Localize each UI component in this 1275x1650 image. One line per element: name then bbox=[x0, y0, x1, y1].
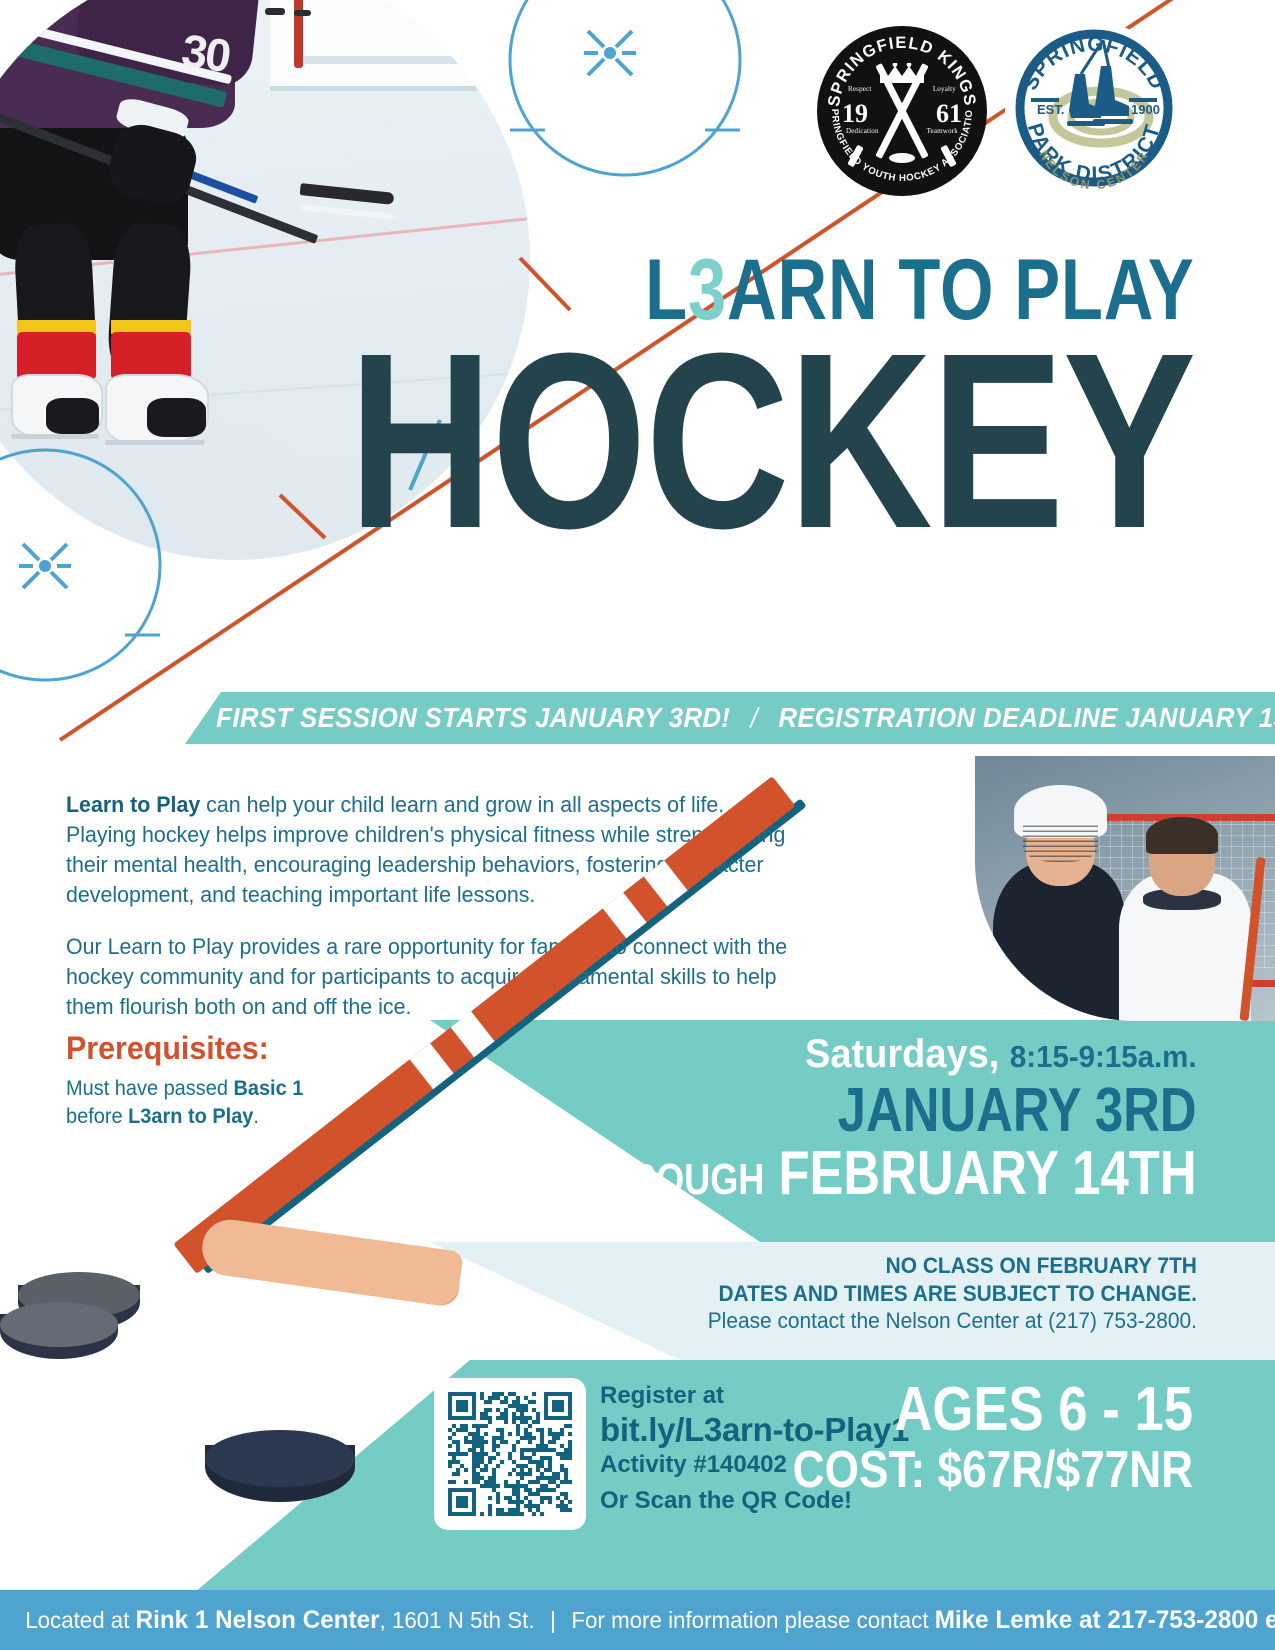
kings-value-dedication: Dedication bbox=[846, 127, 879, 135]
goal-bar bbox=[294, 56, 459, 64]
banner-registration-deadline: REGISTRATION DEADLINE JANUARY 1ST bbox=[778, 702, 1275, 733]
schedule-block: Saturdays, 8:15-9:15a.m. JANUARY 3RD THR… bbox=[447, 1032, 1197, 1205]
prereq-line2-post: . bbox=[253, 1105, 259, 1128]
crown-icon bbox=[878, 63, 926, 85]
skate-toe-left bbox=[46, 398, 99, 434]
prereq-line2-pre: before bbox=[66, 1105, 128, 1128]
footer-located-pre: Located at bbox=[25, 1607, 135, 1633]
kings-value-teamwork: Teamwork bbox=[927, 127, 958, 135]
springfield-park-district-logo: SPRINGFIELD PARK DISTRICT EST. 1900 NELS… bbox=[1005, 22, 1183, 200]
kings-year-right: 61 bbox=[936, 99, 962, 129]
logo-row: SPRINGFIELD KINGS SPRINGFIELD YOUTH HOCK… bbox=[817, 22, 1183, 200]
footer-text: Located at Rink 1 Nelson Center, 1601 N … bbox=[0, 1606, 1275, 1635]
prereq-line1-pre: Must have passed bbox=[66, 1077, 233, 1100]
schedule-through-word: THROUGH bbox=[582, 1155, 764, 1204]
schedule-day: Saturdays, bbox=[805, 1032, 999, 1076]
park-est-year: 1900 bbox=[1131, 102, 1160, 117]
jersey-number: 30 bbox=[178, 23, 232, 83]
footer-contact-name: Mike Lemke bbox=[935, 1606, 1072, 1634]
puck-icon bbox=[889, 153, 915, 163]
banner-separator: / bbox=[730, 702, 778, 733]
intro-bold-lead: Learn to Play bbox=[66, 792, 200, 817]
schedule-end-date: THROUGH FEBRUARY 14TH bbox=[582, 1142, 1197, 1205]
pricing-block: AGES 6 - 15 COST: $67R/$77NR bbox=[722, 1378, 1193, 1498]
player-b-hair bbox=[1146, 817, 1218, 854]
skate-blade-left bbox=[11, 434, 100, 439]
schedule-day-time: Saturdays, 8:15-9:15a.m. bbox=[485, 1032, 1197, 1077]
kings-value-respect: Respect bbox=[848, 85, 872, 93]
player-sock-left bbox=[17, 332, 97, 380]
stick-blade-icon bbox=[847, 145, 864, 168]
prerequisites-heading: Prerequisites: bbox=[66, 1030, 303, 1067]
player-a-body bbox=[993, 862, 1125, 1021]
park-district-logo-art: SPRINGFIELD PARK DISTRICT EST. 1900 NELS… bbox=[1005, 22, 1183, 200]
prerequisites-block: Prerequisites: Must have passed Basic 1 … bbox=[66, 1030, 316, 1132]
puck-icon bbox=[0, 1302, 118, 1370]
prerequisites-body: Must have passed Basic 1 before L3arn to… bbox=[66, 1075, 303, 1132]
distant-puck-icon bbox=[294, 10, 311, 16]
distant-puck-icon bbox=[265, 8, 285, 15]
title-line-hockey: HOCKEY bbox=[349, 336, 1195, 546]
qr-code-card[interactable] bbox=[434, 1378, 586, 1530]
prereq-l3arn: L3arn to Play bbox=[128, 1105, 253, 1128]
notes-block: NO CLASS ON FEBRUARY 7TH DATES AND TIMES… bbox=[682, 1252, 1197, 1336]
footer-separator: | bbox=[535, 1607, 572, 1633]
footer-contact-pre: For more information please contact bbox=[571, 1607, 934, 1633]
player-stick-blade bbox=[300, 183, 395, 205]
ages-range: AGES 6 - 15 bbox=[793, 1378, 1193, 1441]
prereq-basic1: Basic 1 bbox=[233, 1077, 303, 1100]
park-est-label: EST. bbox=[1037, 102, 1064, 117]
kings-value-loyalty: Loyalty bbox=[933, 85, 956, 93]
note-subject-to-change: DATES AND TIMES ARE SUBJECT TO CHANGE. bbox=[708, 1280, 1197, 1308]
banner-first-session: FIRST SESSION STARTS JANUARY 3RD! bbox=[216, 702, 730, 733]
session-banner: FIRST SESSION STARTS JANUARY 3RD!/REGIST… bbox=[185, 692, 1275, 744]
note-no-class: NO CLASS ON FEBRUARY 7TH bbox=[708, 1252, 1197, 1280]
springfield-kings-logo: SPRINGFIELD KINGS SPRINGFIELD YOUTH HOCK… bbox=[817, 26, 987, 196]
intro-paragraph-2: Our Learn to Play provides a rare opport… bbox=[66, 932, 798, 1022]
footer-bar: Located at Rink 1 Nelson Center, 1601 N … bbox=[0, 1590, 1275, 1650]
schedule-start-date: JANUARY 3RD bbox=[582, 1079, 1197, 1142]
footer-address: , 1601 N 5th St. bbox=[380, 1607, 535, 1633]
note-contact-nelson-center: Please contact the Nelson Center at (217… bbox=[708, 1307, 1197, 1336]
two-players-photo bbox=[975, 756, 1275, 1021]
kings-year-left: 19 bbox=[842, 99, 868, 129]
player-a-cage bbox=[1023, 825, 1098, 862]
stick-blade-icon bbox=[940, 145, 957, 168]
qr-code-icon[interactable] bbox=[448, 1392, 572, 1516]
player-stick-blade-edge bbox=[300, 204, 395, 220]
schedule-time: 8:15-9:15a.m. bbox=[1010, 1039, 1197, 1074]
page-title: L3ARN TO PLAY HOCKEY bbox=[137, 250, 1195, 546]
cost-value: COST: $67R/$77NR bbox=[793, 1443, 1193, 1498]
schedule-end-date-value: FEBRUARY 14TH bbox=[779, 1139, 1197, 1208]
footer-contact-rest: at 217-753-2800 ext.1503 bbox=[1072, 1606, 1275, 1634]
puck-icon bbox=[205, 1430, 355, 1516]
flyer-page: 30 bbox=[0, 0, 1275, 1650]
kings-logo-emblem: 19 61 Respect Loyalty Dedication Teamwor… bbox=[846, 55, 958, 167]
footer-venue: Rink 1 Nelson Center bbox=[136, 1606, 380, 1634]
banner-text: FIRST SESSION STARTS JANUARY 3RD!/REGIST… bbox=[185, 702, 1275, 734]
feature-stick-blade bbox=[199, 1216, 464, 1308]
